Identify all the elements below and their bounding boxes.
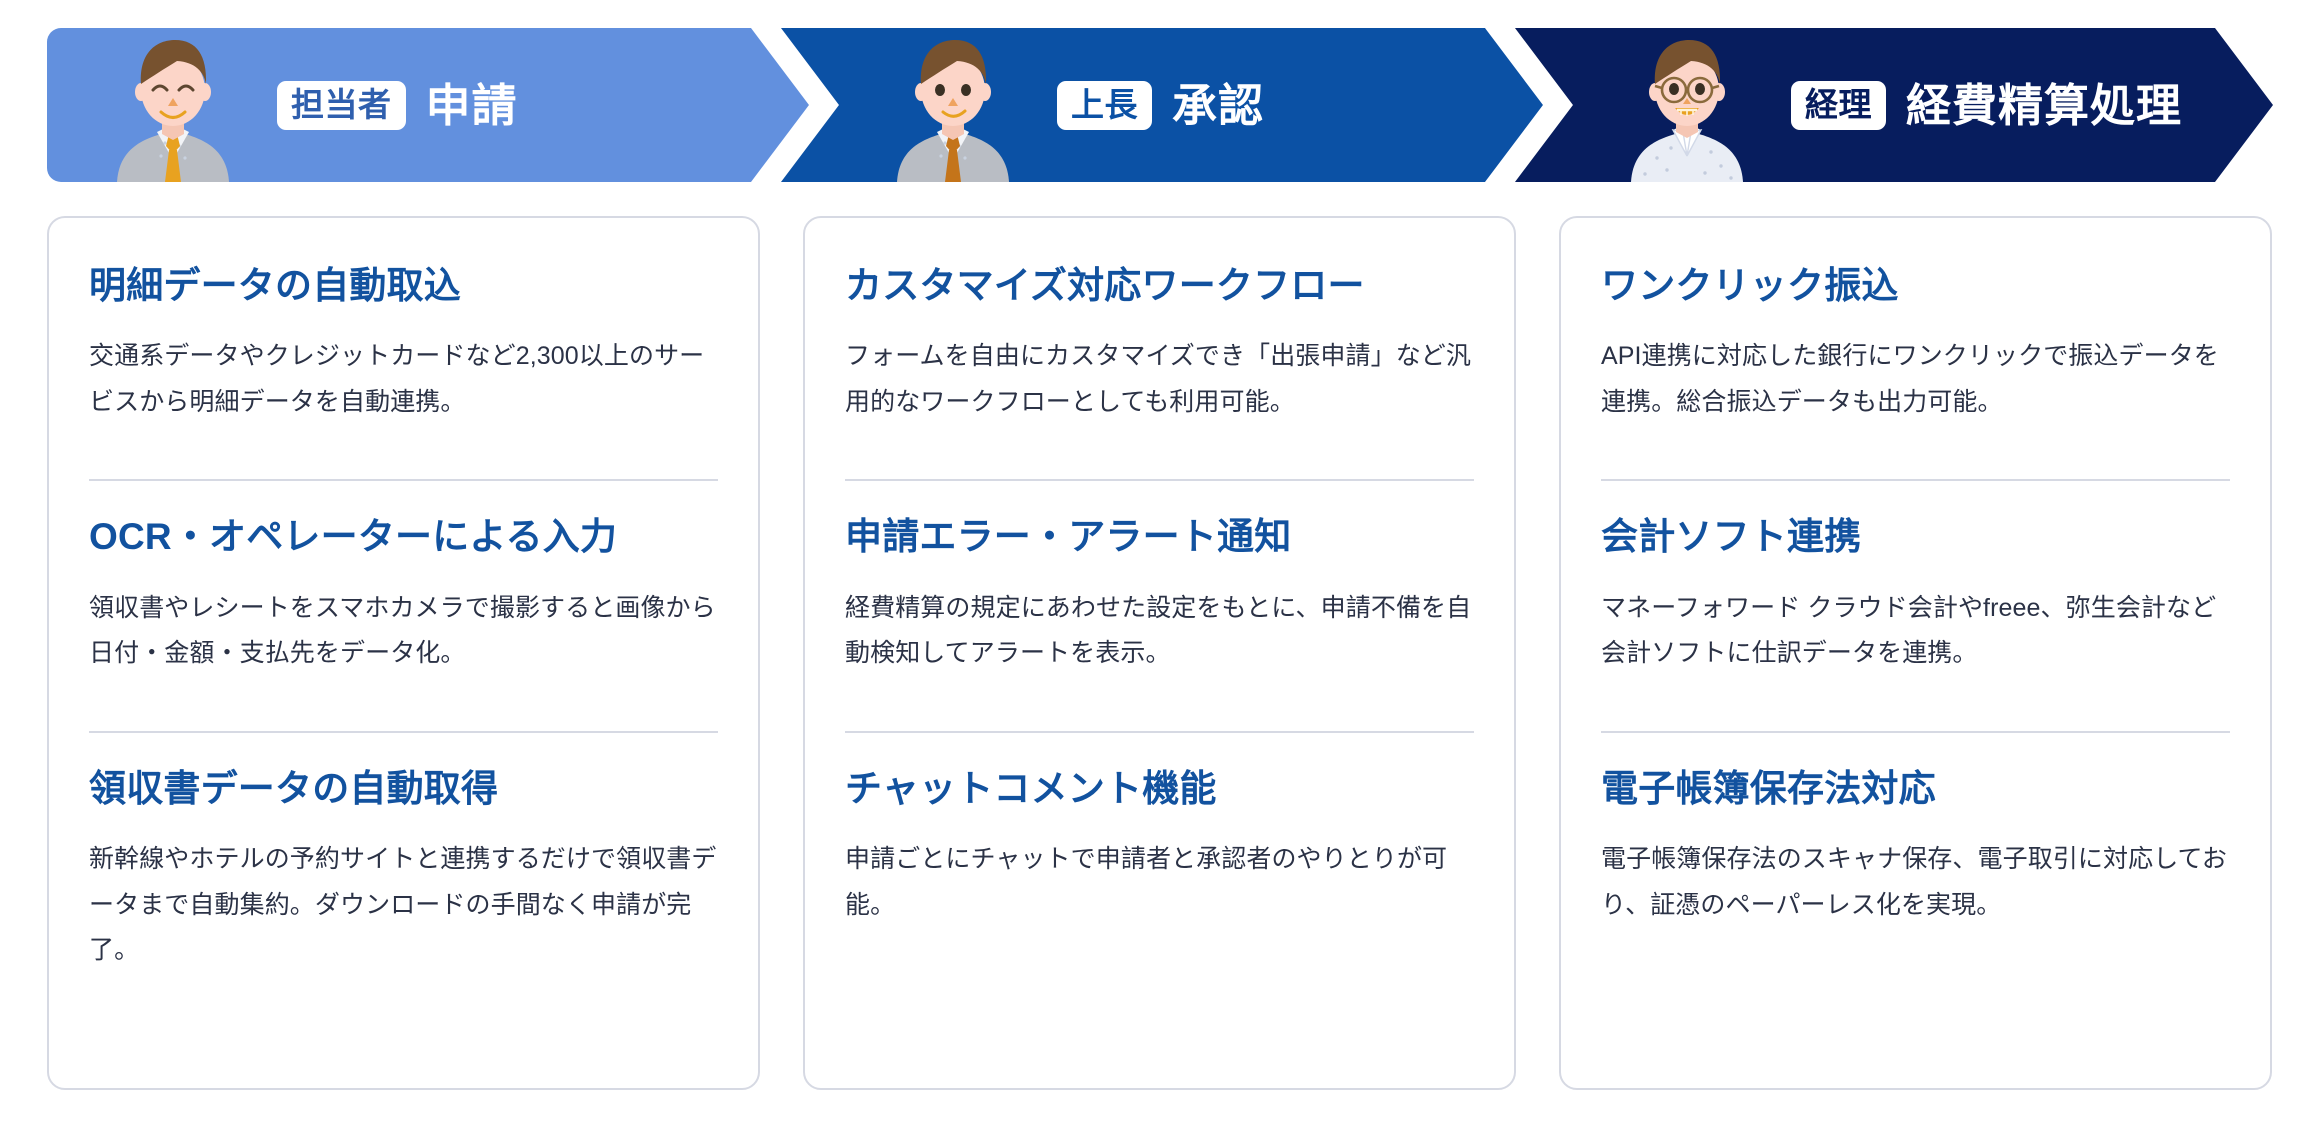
feature-description: マネーフォワード クラウド会計やfreee、弥生会計など会計ソフトに仕訳データを… xyxy=(1601,586,2230,677)
feature-title: ワンクリック振込 xyxy=(1601,264,2230,308)
workflow-step-3-expense-settlement: 経理 経費精算処理 xyxy=(1515,28,2273,182)
feature-description: 新幹線やホテルの予約サイトと連携するだけで領収書データまで自動集約。ダウンロード… xyxy=(89,837,718,974)
step-3-label-group: 経理 経費精算処理 xyxy=(1791,81,2182,130)
feature-title: カスタマイズ対応ワークフロー xyxy=(845,264,1474,308)
feature-title: チャットコメント機能 xyxy=(845,767,1474,811)
feature-item: チャットコメント機能 申請ごとにチャットで申請者と承認者のやりとりが可能。 xyxy=(845,767,1474,956)
male-employee-avatar xyxy=(109,28,237,182)
feature-description: 領収書やレシートをスマホカメラで撮影すると画像から日付・金額・支払先をデータ化。 xyxy=(89,586,718,677)
feature-divider xyxy=(845,731,1474,733)
step-1-role-chip: 担当者 xyxy=(277,81,406,130)
feature-description: 申請ごとにチャットで申請者と承認者のやりとりが可能。 xyxy=(845,837,1474,928)
step-1-title: 申請 xyxy=(426,83,518,128)
feature-description: 交通系データやクレジットカードなど2,300以上のサービスから明細データを自動連… xyxy=(89,334,718,425)
workflow-step-banner: 担当者 申請 xyxy=(47,28,2273,182)
feature-card-application: 明細データの自動取込 交通系データやクレジットカードなど2,300以上のサービス… xyxy=(47,216,760,1090)
feature-item: 明細データの自動取込 交通系データやクレジットカードなど2,300以上のサービス… xyxy=(89,264,718,453)
feature-title: 会計ソフト連携 xyxy=(1601,515,2230,559)
feature-item: カスタマイズ対応ワークフロー フォームを自由にカスタマイズでき「出張申請」など汎… xyxy=(845,264,1474,453)
feature-divider xyxy=(845,479,1474,481)
step-1-label-group: 担当者 申請 xyxy=(277,81,518,130)
feature-item: ワンクリック振込 API連携に対応した銀行にワンクリックで振込データを連携。総合… xyxy=(1601,264,2230,453)
workflow-step-1-application: 担当者 申請 xyxy=(47,28,809,182)
feature-divider xyxy=(89,731,718,733)
feature-card-settlement: ワンクリック振込 API連携に対応した銀行にワンクリックで振込データを連携。総合… xyxy=(1559,216,2272,1090)
feature-description: フォームを自由にカスタマイズでき「出張申請」など汎用的なワークフローとしても利用… xyxy=(845,334,1474,425)
feature-item: 会計ソフト連携 マネーフォワード クラウド会計やfreee、弥生会計など会計ソフ… xyxy=(1601,515,2230,704)
feature-title: OCR・オペレーターによる入力 xyxy=(89,515,718,559)
feature-description: 経費精算の規定にあわせた設定をもとに、申請不備を自動検知してアラートを表示。 xyxy=(845,586,1474,677)
feature-title: 電子帳簿保存法対応 xyxy=(1601,767,2230,811)
feature-card-approval: カスタマイズ対応ワークフロー フォームを自由にカスタマイズでき「出張申請」など汎… xyxy=(803,216,1516,1090)
feature-divider xyxy=(89,479,718,481)
feature-title: 領収書データの自動取得 xyxy=(89,767,718,811)
feature-divider xyxy=(1601,731,2230,733)
feature-description: API連携に対応した銀行にワンクリックで振込データを連携。総合振込データも出力可… xyxy=(1601,334,2230,425)
workflow-step-2-approval: 上長 承認 xyxy=(781,28,1543,182)
feature-item: 領収書データの自動取得 新幹線やホテルの予約サイトと連携するだけで領収書データま… xyxy=(89,767,718,1002)
step-2-title: 承認 xyxy=(1172,83,1264,128)
step-3-role-chip: 経理 xyxy=(1791,81,1886,130)
feature-card-row: 明細データの自動取込 交通系データやクレジットカードなど2,300以上のサービス… xyxy=(47,216,2273,1090)
feature-item: 電子帳簿保存法対応 電子帳簿保存法のスキャナ保存、電子取引に対応しており、証憑の… xyxy=(1601,767,2230,956)
feature-title: 申請エラー・アラート通知 xyxy=(845,515,1474,559)
feature-item: 申請エラー・アラート通知 経費精算の規定にあわせた設定をもとに、申請不備を自動検… xyxy=(845,515,1474,704)
feature-title: 明細データの自動取込 xyxy=(89,264,718,308)
male-manager-avatar xyxy=(889,28,1017,182)
feature-item: OCR・オペレーターによる入力 領収書やレシートをスマホカメラで撮影すると画像か… xyxy=(89,515,718,704)
step-2-label-group: 上長 承認 xyxy=(1057,81,1264,130)
step-3-title: 経費精算処理 xyxy=(1906,83,2182,128)
expense-workflow-infographic: 担当者 申請 xyxy=(0,0,2320,1124)
feature-description: 電子帳簿保存法のスキャナ保存、電子取引に対応しており、証憑のペーパーレス化を実現… xyxy=(1601,837,2230,928)
step-2-role-chip: 上長 xyxy=(1057,81,1152,130)
male-accountant-glasses-avatar xyxy=(1623,28,1751,182)
feature-divider xyxy=(1601,479,2230,481)
